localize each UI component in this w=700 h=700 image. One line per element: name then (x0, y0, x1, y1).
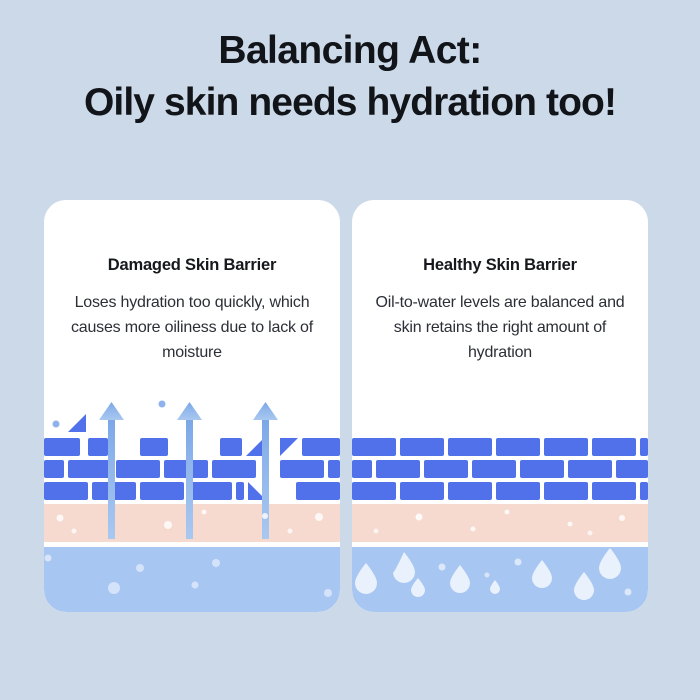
page-title: Balancing Act: Oily skin needs hydration… (0, 26, 700, 130)
title-line-2: Oily skin needs hydration too! (0, 76, 700, 130)
card-damaged-skin-barrier: Damaged Skin Barrier Loses hydration too… (44, 200, 340, 612)
card-heading-damaged: Damaged Skin Barrier (44, 256, 340, 275)
brick-barrier-healthy (352, 438, 648, 500)
card-body-healthy: Oil-to-water levels are balanced and ski… (374, 290, 626, 365)
diagram-healthy-skin-barrier (352, 400, 648, 612)
dermis-layer (352, 504, 648, 542)
water-layer (44, 547, 340, 612)
card-heading-healthy: Healthy Skin Barrier (352, 256, 648, 275)
broken-brick-fragment (68, 414, 86, 432)
comparison-cards: Damaged Skin Barrier Loses hydration too… (44, 200, 648, 612)
card-healthy-skin-barrier: Healthy Skin Barrier Oil-to-water levels… (352, 200, 648, 612)
diagram-damaged-skin-barrier (44, 400, 340, 612)
title-line-1: Balancing Act: (0, 26, 700, 76)
card-body-damaged: Loses hydration too quickly, which cause… (66, 290, 318, 365)
